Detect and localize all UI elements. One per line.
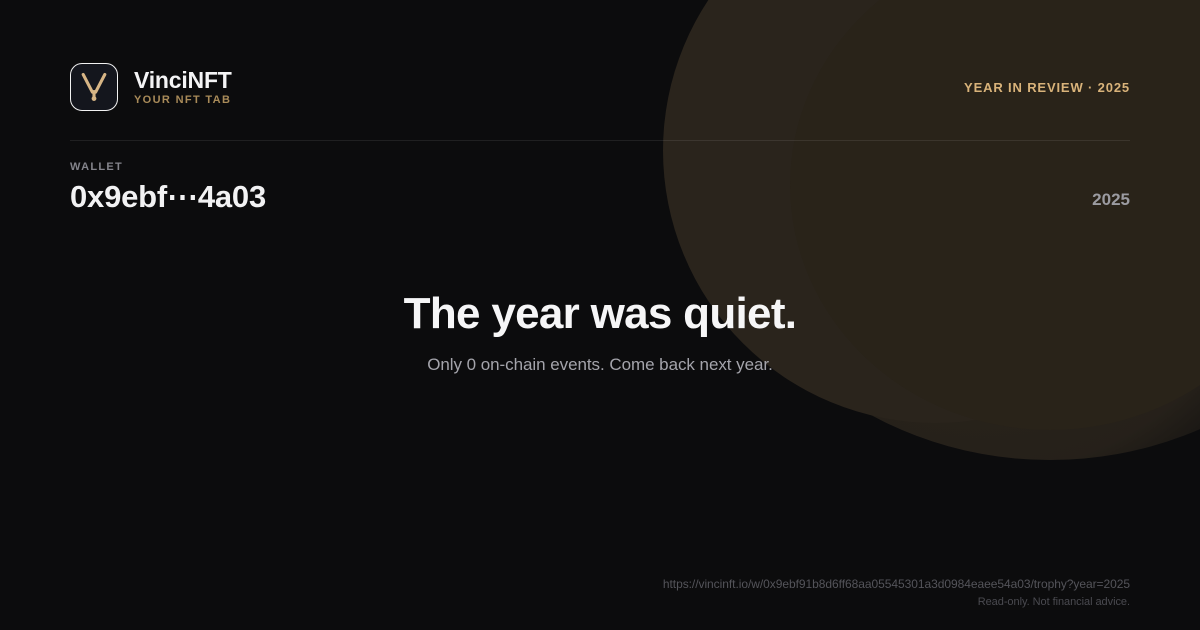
footer: https://vincinft.io/w/0x9ebf91b8d6ff68aa…: [663, 577, 1130, 608]
wallet-row: WALLET 0x9ebf⋯4a03 2025: [70, 162, 1130, 214]
vinci-v-pendant-icon: [70, 63, 118, 111]
brand[interactable]: VinciNFT YOUR NFT TAB: [70, 63, 232, 111]
hero-section: The year was quiet. Only 0 on-chain even…: [0, 288, 1200, 376]
brand-text: VinciNFT YOUR NFT TAB: [134, 68, 232, 106]
hero-subtitle: Only 0 on-chain events. Come back next y…: [0, 354, 1200, 376]
footer-disclaimer: Read-only. Not financial advice.: [978, 596, 1130, 608]
wallet-address[interactable]: 0x9ebf⋯4a03: [70, 181, 266, 214]
header-divider: [70, 140, 1130, 141]
hero-title: The year was quiet.: [0, 288, 1200, 341]
year-in-review-label: YEAR IN REVIEW · 2025: [964, 80, 1130, 95]
footer-url[interactable]: https://vincinft.io/w/0x9ebf91b8d6ff68aa…: [663, 577, 1130, 591]
year-in-review-card: VinciNFT YOUR NFT TAB YEAR IN REVIEW · 2…: [0, 0, 1200, 630]
header: VinciNFT YOUR NFT TAB YEAR IN REVIEW · 2…: [70, 55, 1130, 119]
wallet-label: WALLET: [70, 162, 266, 173]
wallet-block: WALLET 0x9ebf⋯4a03: [70, 162, 266, 214]
brand-name: VinciNFT: [134, 68, 232, 93]
wallet-year: 2025: [1092, 191, 1130, 214]
brand-tagline: YOUR NFT TAB: [134, 94, 232, 106]
